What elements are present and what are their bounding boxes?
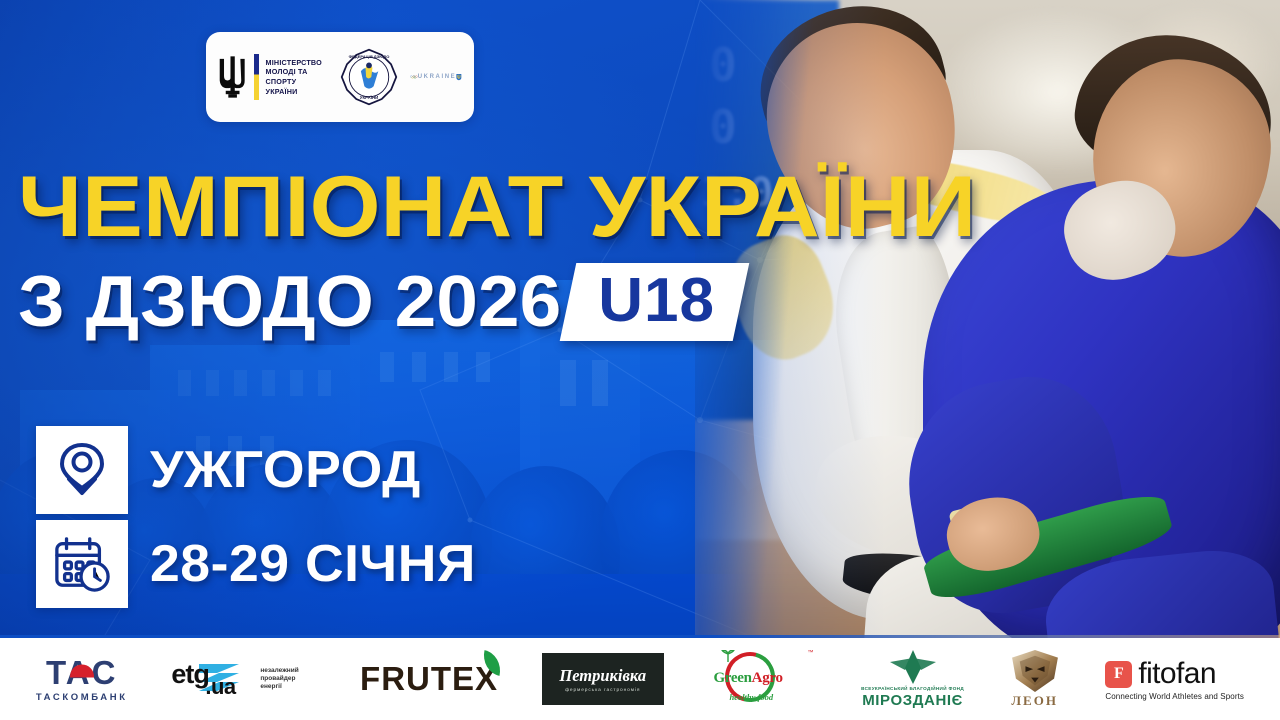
mirozdanie-wordmark: МІРОЗДАНІЄ — [861, 692, 964, 709]
etg-domain: .ua — [205, 674, 235, 700]
fitofan-chat-badge-icon: F — [1105, 661, 1132, 688]
headline-block: ЧЕМПІОНАТ УКРАЇНИ З ДЗЮДО 2026 U18 — [18, 166, 738, 341]
etg-tagline: незалежний провайдер енергії — [260, 667, 316, 691]
petrykivka-tagline: фермерська гастрономія — [565, 688, 640, 693]
location-icon-box — [36, 426, 128, 514]
judo-federation-emblem: ФЕДЕРАЦІЯ ДЗЮДО УКРАЇНИ — [340, 48, 398, 106]
organizer-logo-bar: Міністерство молоді та спорту України ФЕ… — [206, 32, 474, 122]
olympic-rings-icon — [410, 68, 418, 86]
sponsor-frutex[interactable]: FRUTEX — [360, 649, 498, 709]
ukraine-shield-trident-icon — [456, 57, 462, 97]
event-date: 28-29 СІЧНЯ — [150, 534, 476, 594]
etg-wordmark: etg — [171, 659, 209, 690]
greenagro-agro: Agro — [752, 670, 783, 686]
ministry-logo: Міністерство молоді та спорту України — [218, 53, 330, 101]
olympic-committee-logo: UKRAINE — [410, 57, 462, 97]
ministry-line-1: Міністерство — [266, 58, 330, 68]
greenagro-wordmark: GreenAgro — [713, 670, 782, 687]
event-poster: 0 0 3:0 — [0, 0, 1280, 720]
fitofan-badge-letter: F — [1114, 665, 1124, 683]
page-subtitle: З ДЗЮДО 2026 — [18, 266, 561, 338]
taskombank-mark: TAC — [46, 656, 117, 689]
age-category-label: U18 — [599, 270, 716, 332]
mirozdanie-tagline: ВСЕУКРАЇНСЬКИЙ БЛАГОДІЙНИЙ ФОНД — [861, 686, 964, 691]
fitofan-wordmark: fitofan — [1138, 657, 1216, 691]
petrykivka-wordmark: Петриківка — [559, 666, 646, 686]
sponsor-leon[interactable]: ЛЕОН — [1008, 649, 1062, 709]
sponsor-etg-ua[interactable]: etg .ua незалежний провайдер енергії — [171, 649, 316, 709]
olympic-country-label: UKRAINE — [418, 74, 457, 80]
photo-edge-blend — [695, 0, 1280, 660]
leon-wordmark: ЛЕОН — [1008, 693, 1062, 709]
federation-logo: ФЕДЕРАЦІЯ ДЗЮДО УКРАЇНИ — [330, 48, 398, 106]
sponsor-fitofan[interactable]: F fitofan Connecting World Athletes and … — [1105, 649, 1244, 709]
greenagro-tagline: healthy food — [729, 692, 773, 702]
frutex-wordmark: FRUTEX — [360, 660, 498, 697]
green-star-icon — [888, 650, 938, 684]
fitofan-tagline: Connecting World Athletes and Sports — [1105, 692, 1244, 701]
sponsor-taskombank[interactable]: TAC ТАСКОМБАНК — [36, 649, 128, 709]
event-location: УЖГОРОД — [150, 440, 421, 500]
location-row: УЖГОРОД — [36, 426, 466, 514]
judo-match-photo: 0 0 3:0 — [695, 0, 1280, 660]
date-icon-box — [36, 520, 128, 608]
greenagro-tm: ™ — [807, 650, 813, 656]
ukraine-flag-bar — [254, 54, 258, 100]
sponsor-bar: TAC ТАСКОМБАНК etg .ua незалежний провай… — [0, 638, 1280, 720]
sponsor-greenagro[interactable]: ™ GreenAgro healthy food — [707, 649, 817, 709]
event-details-block: УЖГОРОД — [36, 426, 466, 614]
greenagro-green: Green — [713, 670, 751, 686]
ministry-name: Міністерство молоді та спорту України — [266, 58, 330, 97]
taskombank-name: ТАСКОМБАНК — [36, 692, 128, 703]
lion-head-icon — [1008, 650, 1062, 692]
ukraine-trident-icon — [218, 53, 247, 101]
date-row: 28-29 СІЧНЯ — [36, 520, 466, 608]
map-pin-icon — [56, 441, 108, 499]
page-title: ЧЕМПІОНАТ УКРАЇНИ — [18, 166, 781, 249]
etg-mark: etg .ua — [171, 657, 255, 701]
age-category-badge: U18 — [560, 263, 749, 341]
sponsor-petrykivka[interactable]: Петриківка фермерська гастрономія — [542, 649, 664, 709]
svg-text:ФЕДЕРАЦІЯ ДЗЮДО: ФЕДЕРАЦІЯ ДЗЮДО — [349, 54, 390, 59]
ministry-line-3: України — [266, 87, 330, 97]
sprout-icon — [721, 650, 735, 662]
svg-text:УКРАЇНИ: УКРАЇНИ — [360, 95, 378, 100]
sponsor-mirozdanie[interactable]: ВСЕУКРАЇНСЬКИЙ БЛАГОДІЙНИЙ ФОНД МІРОЗДАН… — [861, 649, 964, 709]
calendar-clock-icon — [53, 535, 111, 593]
ministry-line-2: молоді та спорту — [266, 67, 330, 86]
